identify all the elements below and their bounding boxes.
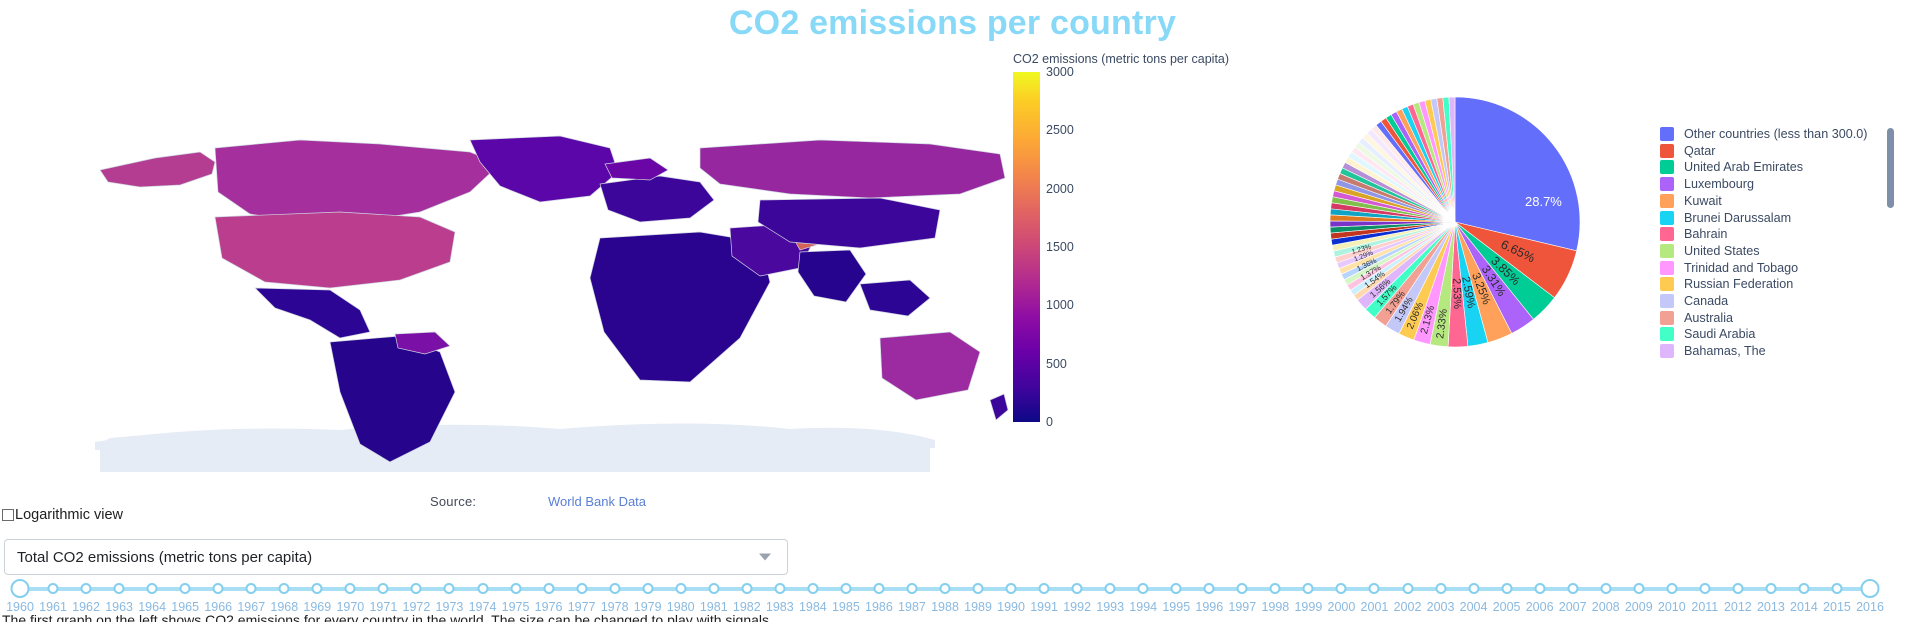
- map-svg[interactable]: [0, 52, 1010, 472]
- legend-item[interactable]: Saudi Arabia: [1648, 326, 1896, 342]
- controls-panel[interactable]: Logarithmic view Total CO2 emissions (me…: [0, 506, 1905, 524]
- legend-item[interactable]: Other countries (less than 300.0): [1648, 126, 1896, 142]
- colorbar-gradient: [1013, 72, 1040, 422]
- colorbar-title: CO2 emissions (metric tons per capita): [1013, 52, 1229, 66]
- slider-tick-dot[interactable]: [1435, 583, 1446, 594]
- slider-tick-dot[interactable]: [1105, 583, 1116, 594]
- legend-item[interactable]: Bahrain: [1648, 226, 1896, 242]
- slider-tick-dot[interactable]: [1732, 583, 1743, 594]
- slider-tick-dot[interactable]: [741, 583, 752, 594]
- legend-swatch-icon: [1660, 194, 1674, 208]
- colorbar-tick-0: 0: [1046, 415, 1053, 429]
- slider-tick-dot[interactable]: [1831, 583, 1842, 594]
- slider-tick-dot[interactable]: [1369, 583, 1380, 594]
- legend-swatch-icon: [1660, 344, 1674, 358]
- legend-item-label: United States: [1684, 244, 1760, 258]
- legend-item[interactable]: Kuwait: [1648, 193, 1896, 209]
- legend-item-label: Other countries (less than 300.0): [1684, 127, 1867, 141]
- pie-legend[interactable]: Other countries (less than 300.0)QatarUn…: [1648, 126, 1896, 426]
- slider-tick-dot[interactable]: [1567, 583, 1578, 594]
- slider-tick-dot[interactable]: [147, 583, 158, 594]
- legend-item-label: Bahamas, The: [1684, 344, 1766, 358]
- legend-item[interactable]: United States: [1648, 243, 1896, 259]
- slider-tick-dot[interactable]: [906, 583, 917, 594]
- choropleth-map[interactable]: Source: World Bank Data: [0, 52, 1010, 472]
- slider-tick-dot[interactable]: [1798, 583, 1809, 594]
- legend-item[interactable]: Russian Federation: [1648, 276, 1896, 292]
- pie-svg[interactable]: [1240, 52, 1660, 452]
- slider-tick-dot[interactable]: [48, 583, 59, 594]
- legend-item[interactable]: Canada: [1648, 293, 1896, 309]
- slider-tick-dot[interactable]: [973, 583, 984, 594]
- legend-item-label: Bahrain: [1684, 227, 1727, 241]
- legend-swatch-icon: [1660, 127, 1674, 141]
- slider-tick-dot[interactable]: [1006, 583, 1017, 594]
- slider-tick-dot[interactable]: [477, 583, 488, 594]
- legend-item[interactable]: Australia: [1648, 310, 1896, 326]
- slider-tick-dot[interactable]: [609, 583, 620, 594]
- colorbar-tick-2000: 2000: [1046, 182, 1074, 196]
- slider-tick-dot[interactable]: [675, 583, 686, 594]
- slider-tick-dot[interactable]: [279, 583, 290, 594]
- colorbar-tick-2500: 2500: [1046, 123, 1074, 137]
- slider-tick-dot[interactable]: [1072, 583, 1083, 594]
- legend-swatch-icon: [1660, 244, 1674, 258]
- slider-tick-dot[interactable]: [378, 583, 389, 594]
- logarithmic-view-label: Logarithmic view: [15, 507, 123, 523]
- slider-tick-dot[interactable]: [1600, 583, 1611, 594]
- slider-tick-dot[interactable]: [1765, 583, 1776, 594]
- legend-item-label: Luxembourg: [1684, 177, 1754, 191]
- slider-tick-dot[interactable]: [510, 583, 521, 594]
- legend-swatch-icon: [1660, 211, 1674, 225]
- slider-tick-dot[interactable]: [81, 583, 92, 594]
- slider-tick-dot[interactable]: [1699, 583, 1710, 594]
- slider-tick-dot[interactable]: [1171, 583, 1182, 594]
- legend-swatch-icon: [1660, 311, 1674, 325]
- legend-scrollbar-thumb[interactable]: [1887, 128, 1894, 208]
- legend-swatch-icon: [1660, 160, 1674, 174]
- slider-tick-dot[interactable]: [180, 583, 191, 594]
- metric-select[interactable]: Total CO2 emissions (metric tons per cap…: [4, 539, 788, 575]
- pie-slice-label: 2.53%: [1450, 278, 1463, 309]
- legend-item[interactable]: Bahamas, The: [1648, 343, 1896, 359]
- dashboard-root: CO2 emissions per country: [0, 0, 1905, 622]
- slider-handle[interactable]: [1861, 579, 1880, 598]
- slider-tick-dot[interactable]: [114, 583, 125, 594]
- slider-tick-dot[interactable]: [1204, 583, 1215, 594]
- legend-item-label: Brunei Darussalam: [1684, 211, 1791, 225]
- slider-tick-dot[interactable]: [1468, 583, 1479, 594]
- logarithmic-view-checkbox[interactable]: [2, 509, 14, 521]
- slider-tick-dot[interactable]: [213, 583, 224, 594]
- legend-swatch-icon: [1660, 177, 1674, 191]
- legend-scrollbar[interactable]: [1887, 128, 1894, 424]
- slider-tick-dot[interactable]: [708, 583, 719, 594]
- slider-tick-dot[interactable]: [1270, 583, 1281, 594]
- legend-swatch-icon: [1660, 327, 1674, 341]
- colorbar-tick-3000: 3000: [1046, 65, 1074, 79]
- slider-tick-dot[interactable]: [1138, 583, 1149, 594]
- slider-tick-dot[interactable]: [840, 583, 851, 594]
- slider-tick-dot[interactable]: [345, 583, 356, 594]
- legend-item-label: Qatar: [1684, 144, 1716, 158]
- slider-tick-dot[interactable]: [1039, 583, 1050, 594]
- slider-tick-dot[interactable]: [411, 583, 422, 594]
- slider-handle[interactable]: [11, 579, 30, 598]
- slider-tick-dot[interactable]: [1336, 583, 1347, 594]
- legend-swatch-icon: [1660, 261, 1674, 275]
- legend-swatch-icon: [1660, 144, 1674, 158]
- slider-tick-dot[interactable]: [543, 583, 554, 594]
- footnote-text: The first graph on the left shows CO2 em…: [2, 612, 1902, 622]
- slider-tick-dot[interactable]: [1402, 583, 1413, 594]
- legend-item[interactable]: Trinidad and Tobago: [1648, 260, 1896, 276]
- slider-tick-dot[interactable]: [1237, 583, 1248, 594]
- legend-item-label: Kuwait: [1684, 194, 1722, 208]
- legend-list[interactable]: Other countries (less than 300.0)QatarUn…: [1648, 126, 1896, 359]
- legend-swatch-icon: [1660, 294, 1674, 308]
- legend-swatch-icon: [1660, 277, 1674, 291]
- colorbar-tick-1500: 1500: [1046, 240, 1074, 254]
- legend-item-label: Saudi Arabia: [1684, 327, 1755, 341]
- legend-item[interactable]: Qatar: [1648, 143, 1896, 159]
- metric-select-value: Total CO2 emissions (metric tons per cap…: [17, 549, 312, 566]
- slider-tick-dot[interactable]: [873, 583, 884, 594]
- legend-item[interactable]: Brunei Darussalam: [1648, 209, 1896, 225]
- legend-swatch-icon: [1660, 227, 1674, 241]
- legend-item-label: Australia: [1684, 311, 1733, 325]
- legend-item-label: United Arab Emirates: [1684, 160, 1803, 174]
- slider-tick-dot[interactable]: [940, 583, 951, 594]
- slider-tick-dot[interactable]: [807, 583, 818, 594]
- colorbar-tick-1000: 1000: [1046, 298, 1074, 312]
- legend-item-label: Trinidad and Tobago: [1684, 261, 1798, 275]
- slider-tick-dot[interactable]: [576, 583, 587, 594]
- slider-tick-dot[interactable]: [1501, 583, 1512, 594]
- pie-chart[interactable]: 28.7% 6.65%3.85%3.31%3.25%2.59%2.53%2.33…: [1240, 52, 1660, 452]
- slider-tick-dot[interactable]: [1666, 583, 1677, 594]
- slider-tick-dot[interactable]: [444, 583, 455, 594]
- page-title: CO2 emissions per country: [0, 2, 1905, 44]
- colorbar-tick-500: 500: [1046, 357, 1067, 371]
- slider-tick-dot[interactable]: [246, 583, 257, 594]
- logarithmic-view-row[interactable]: Logarithmic view: [0, 506, 1905, 524]
- slider-tick-dot[interactable]: [1534, 583, 1545, 594]
- slider-tick-dot[interactable]: [774, 583, 785, 594]
- pie-primary-label: 28.7%: [1525, 194, 1562, 209]
- legend-item[interactable]: Luxembourg: [1648, 176, 1896, 192]
- legend-item[interactable]: United Arab Emirates: [1648, 159, 1896, 175]
- map-colorbar: CO2 emissions (metric tons per capita) 3…: [1010, 52, 1130, 482]
- legend-item-label: Russian Federation: [1684, 277, 1793, 291]
- legend-item-label: Canada: [1684, 294, 1728, 308]
- slider-tick-dot[interactable]: [1633, 583, 1644, 594]
- slider-tick-dot[interactable]: [1303, 583, 1314, 594]
- slider-tick-dot[interactable]: [312, 583, 323, 594]
- chevron-down-icon[interactable]: [759, 554, 771, 561]
- slider-tick-dot[interactable]: [642, 583, 653, 594]
